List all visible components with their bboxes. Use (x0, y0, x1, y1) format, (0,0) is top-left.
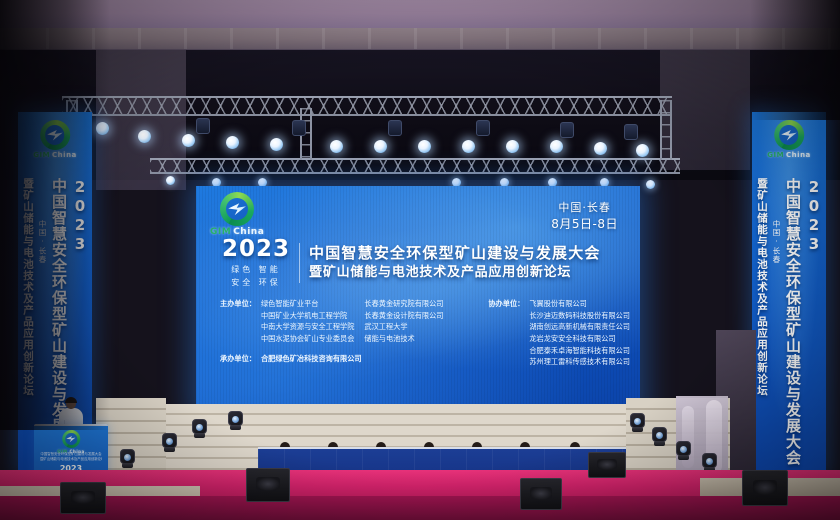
stage-spotlight (330, 140, 343, 153)
gim-swoosh-icon (774, 120, 804, 150)
event-slogan-line1: 绿色 智能 (222, 264, 290, 275)
stage-spotlight (646, 180, 655, 189)
stage-spotlight (462, 140, 475, 153)
event-title-main: 中国智慧安全环保型矿山建设与发展大会 (309, 244, 626, 263)
banner-right-location: 中国·长春 (771, 220, 782, 264)
stage-monitor-speaker (60, 482, 106, 514)
event-year: 2023 (222, 238, 290, 261)
gim-dart-icon (781, 129, 797, 141)
co-organizer-item: 湖南创远高新机械有限责任公司 (529, 321, 630, 333)
banner-right-text-columns: 2023 中国智慧安全环保型矿山建设与发展大会 中国·长春 暨矿山储能与电池技术… (752, 178, 826, 466)
host-item: 武汉工程大学 (364, 321, 443, 333)
moving-head-light (702, 452, 717, 472)
podium-top-surface (34, 424, 108, 426)
podium-logo: GIMChina (57, 430, 84, 454)
stage-monitor-speaker (520, 478, 562, 510)
event-location-block: 中国·长春 8月5日-8日 (551, 200, 618, 233)
gim-region: China (786, 151, 811, 159)
truss-upright-right (660, 100, 672, 160)
moving-head-light (192, 418, 207, 438)
co-organizers-group: 协办单位： 飞翼股份有限公司 长沙迪迈数码科技股份有限公司 湖南创远高新机械有限… (488, 298, 630, 368)
moving-head-light (228, 410, 243, 430)
main-led-screen: GIMChina 中国·长春 8月5日-8日 2023 绿色 智能 安全 环保 … (196, 186, 640, 414)
event-title-sub: 暨矿山储能与电池技术及产品应用创新论坛 (309, 265, 626, 282)
gim-brand: GIM (33, 151, 50, 159)
hall-wall-right (660, 50, 750, 170)
stage-spotlight (226, 136, 239, 149)
host-item: 中南大学资源与安全工程学院 (261, 321, 354, 333)
gim-china-logo: GIMChina (210, 192, 264, 237)
gim-swoosh-icon (220, 192, 254, 226)
co-organizer-item: 龙岩龙安安全科技有限公司 (529, 333, 630, 345)
co-organizer-item: 飞翼股份有限公司 (529, 298, 630, 310)
banner-right-logo: GIMChina (767, 120, 811, 159)
stage-spotlight (166, 176, 175, 185)
vertical-banner-right: GIMChina 2023 中国智慧安全环保型矿山建设与发展大会 中国·长春 暨… (752, 112, 826, 472)
event-year-block: 2023 绿色 智能 安全 环保 (222, 238, 290, 288)
event-dates: 8月5日-8日 (551, 216, 618, 233)
banner-right-year: 2023 (805, 178, 823, 466)
stage-spotlight (96, 122, 109, 135)
stage-spotlight (418, 140, 431, 153)
gim-dart-icon (47, 129, 63, 141)
gim-logo-text: GIMChina (767, 151, 811, 159)
organizer-label: 承办单位： (220, 354, 256, 364)
host-item: 中国水泥协会矿山专业委员会 (261, 333, 354, 345)
stage-spotlight (636, 144, 649, 157)
stage-carpet-front (0, 496, 840, 520)
event-city: 中国·长春 (551, 200, 618, 216)
host-item: 中国矿业大学机电工程学院 (261, 310, 354, 322)
co-organizer-item: 合肥泰禾卓海智能科技有限公司 (529, 345, 630, 357)
event-title-block: 中国智慧安全环保型矿山建设与发展大会 暨矿山储能与电池技术及产品应用创新论坛 (309, 244, 626, 282)
stage-spotlight (182, 134, 195, 147)
banner-left-title-sub: 暨矿山储能与电池技术及产品应用创新论坛 (21, 178, 36, 466)
moving-head-light (162, 432, 177, 452)
stage-spotlight (550, 140, 563, 153)
podium-title-sub: 暨矿山储能与电池技术及产品应用创新论坛 (40, 457, 102, 462)
co-organizer-item: 长沙迪迈数码科技股份有限公司 (529, 310, 630, 322)
gim-logo-text: GIMChina (33, 151, 77, 159)
gim-swoosh-icon (62, 430, 80, 448)
gim-brand: GIM (767, 151, 784, 159)
ceiling-band (0, 0, 840, 30)
par-can-fixture (292, 120, 306, 136)
conference-stage-photo: 2023中国智慧安全环保型矿山 GIMChina (0, 0, 840, 520)
host-list-col2: 长春黄金研究院有限公司 长春黄金设计院有限公司 武汉工程大学 储能与电池技术 (364, 298, 443, 368)
banner-left-logo: GIMChina (33, 120, 77, 159)
lighting-truss-secondary (150, 158, 680, 174)
par-can-fixture (196, 118, 210, 134)
moving-head-light (120, 448, 135, 468)
host-item: 长春黄金设计院有限公司 (364, 310, 443, 322)
stage-spotlight (270, 138, 283, 151)
par-can-fixture (388, 120, 402, 136)
stage-spotlight (138, 130, 151, 143)
stage-spotlight (374, 140, 387, 153)
organizer-name: 合肥绿色矿冶科技咨询有限公司 (261, 354, 362, 364)
host-organizers-group-2: 长春黄金研究院有限公司 长春黄金设计院有限公司 武汉工程大学 储能与电池技术 (364, 298, 443, 368)
gim-swoosh-icon (40, 120, 70, 150)
banner-left-location: 中国·长春 (37, 220, 48, 264)
co-organizer-label: 协办单位： (488, 298, 524, 368)
par-can-fixture (560, 122, 574, 138)
par-can-fixture (624, 124, 638, 140)
banner-right-title-main: 中国智慧安全环保型矿山建设与发展大会 (783, 178, 804, 466)
organizer-section: 承办单位： 合肥绿色矿冶科技咨询有限公司 (220, 354, 362, 364)
stage-monitor-speaker (246, 468, 290, 502)
host-item: 绿色智能矿业平台 (261, 298, 354, 310)
moving-head-light (676, 440, 691, 460)
host-item: 储能与电池技术 (364, 333, 443, 345)
moving-head-light (630, 412, 645, 432)
par-can-fixture (476, 120, 490, 136)
stage-monitor-speaker (742, 470, 788, 506)
gim-region: China (52, 151, 77, 159)
lighting-truss-main (62, 96, 672, 116)
co-organizer-item: 苏州理工雷科传感技术有限公司 (529, 356, 630, 368)
podium-title-block: 中国智慧安全环保型矿山建设与发展大会 暨矿山储能与电池技术及产品应用创新论坛 (40, 452, 102, 462)
stage-spotlight (506, 140, 519, 153)
screen-title-row: 2023 绿色 智能 安全 环保 中国智慧安全环保型矿山建设与发展大会 暨矿山储… (222, 238, 626, 288)
co-organizer-list: 飞翼股份有限公司 长沙迪迈数码科技股份有限公司 湖南创远高新机械有限责任公司 龙… (529, 298, 630, 368)
stage-spotlight (594, 142, 607, 155)
gim-dart-icon (66, 435, 75, 442)
banner-right-title-sub: 暨矿山储能与电池技术及产品应用创新论坛 (755, 178, 770, 466)
event-slogan-line2: 安全 环保 (222, 277, 290, 288)
stage-monitor-speaker (588, 452, 626, 478)
moving-head-light (652, 426, 667, 446)
gim-dart-icon (228, 202, 246, 216)
title-divider (299, 243, 300, 283)
host-item: 长春黄金研究院有限公司 (364, 298, 443, 310)
ceiling-beam (0, 28, 840, 50)
